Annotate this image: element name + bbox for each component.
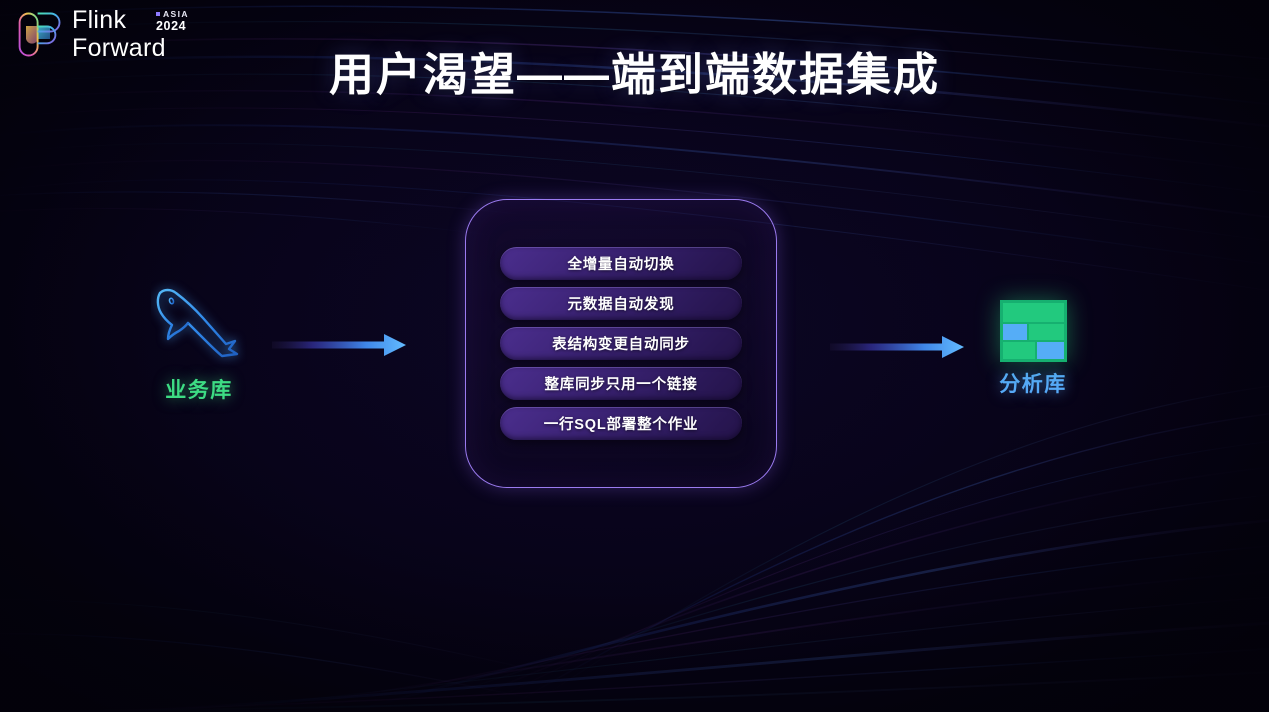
source-node: 业务库 <box>139 280 259 404</box>
feature-pill[interactable]: 元数据自动发现 <box>500 287 742 320</box>
feature-panel: 全增量自动切换 元数据自动发现 表结构变更自动同步 整库同步只用一个链接 一行S… <box>465 199 777 488</box>
arrow-right-icon-left <box>272 328 408 362</box>
brand-edition-badge: ASIA 2024 <box>156 10 189 33</box>
arrow-right-icon-right <box>830 330 966 364</box>
page-title: 用户渴望——端到端数据集成 <box>0 38 1269 103</box>
target-label: 分析库 <box>975 368 1091 398</box>
badge-year-text: 2024 <box>156 20 189 33</box>
feature-pill[interactable]: 全增量自动切换 <box>500 247 742 280</box>
starrocks-blocks-icon <box>1000 300 1067 362</box>
brand-line-flink: Flink <box>72 8 166 33</box>
slide-canvas: Flink Forward ASIA 2024 用户渴望——端到端数据集成 <box>0 0 1269 712</box>
mysql-dolphin-icon <box>151 280 247 368</box>
badge-region-text: ASIA <box>163 10 189 19</box>
badge-region-row: ASIA <box>156 10 189 19</box>
feature-pill[interactable]: 整库同步只用一个链接 <box>500 367 742 400</box>
feature-pill[interactable]: 表结构变更自动同步 <box>500 327 742 360</box>
badge-square-icon <box>156 12 160 16</box>
target-node: 分析库 <box>975 300 1091 398</box>
feature-pill[interactable]: 一行SQL部署整个作业 <box>500 407 742 440</box>
source-label: 业务库 <box>139 374 259 404</box>
